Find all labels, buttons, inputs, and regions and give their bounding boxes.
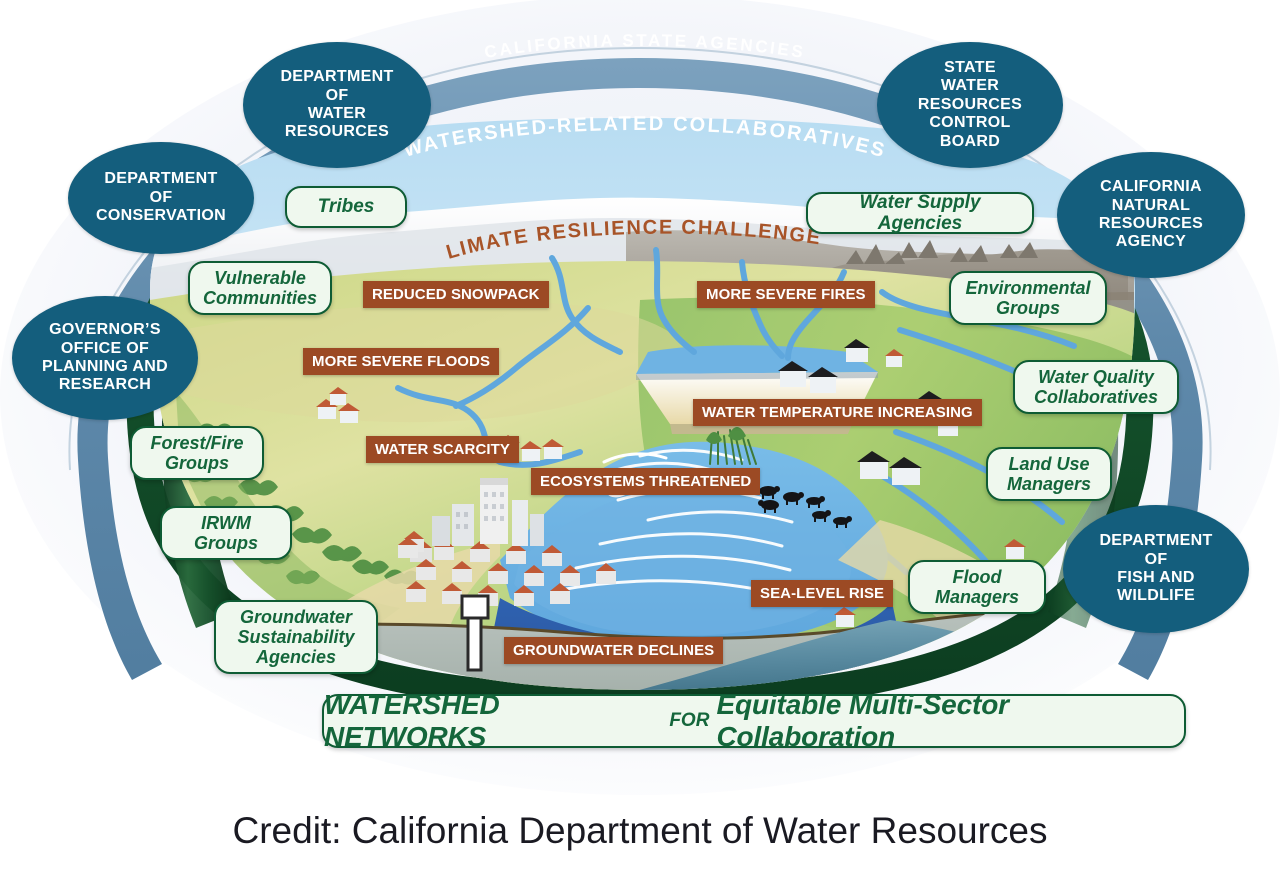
- pill-label: IRWM Groups: [194, 513, 258, 553]
- banner-part-2: FOR: [661, 710, 716, 732]
- challenge-water-temperature-increasing: WATER TEMPERATURE INCREASING: [693, 399, 982, 426]
- agency-label: DEPARTMENT OF CONSERVATION: [96, 170, 226, 225]
- agency-california-natural-resources-agency[interactable]: CALIFORNIA NATURAL RESOURCES AGENCY: [1057, 152, 1245, 278]
- agency-label: CALIFORNIA NATURAL RESOURCES AGENCY: [1099, 178, 1203, 252]
- agency-governors-office-of-planning-and-research[interactable]: GOVERNOR’S OFFICE OF PLANNING AND RESEAR…: [12, 296, 198, 420]
- challenge-water-scarcity: WATER SCARCITY: [366, 436, 519, 463]
- collaborative-tribes[interactable]: Tribes: [285, 186, 407, 228]
- agency-department-of-water-resources[interactable]: DEPARTMENT OF WATER RESOURCES: [243, 42, 431, 168]
- collaborative-irwm-groups[interactable]: IRWM Groups: [160, 506, 292, 560]
- agency-department-of-conservation[interactable]: DEPARTMENT OF CONSERVATION: [68, 142, 254, 254]
- agency-label: DEPARTMENT OF FISH AND WILDLIFE: [1099, 532, 1212, 606]
- infographic-canvas: CALIFORNIA STATE AGENCIES WATERSHED-RELA…: [0, 0, 1280, 880]
- credit-line: Credit: California Department of Water R…: [0, 810, 1280, 852]
- pill-label: Environmental Groups: [965, 278, 1090, 318]
- challenge-groundwater-declines: GROUNDWATER DECLINES: [504, 637, 723, 664]
- banner-part-3: Equitable Multi-Sector Collaboration: [716, 689, 1184, 753]
- agency-department-of-fish-and-wildlife[interactable]: DEPARTMENT OF FISH AND WILDLIFE: [1063, 505, 1249, 633]
- pill-label: Groundwater Sustainability Agencies: [237, 607, 354, 667]
- agency-state-water-resources-control-board[interactable]: STATE WATER RESOURCES CONTROL BOARD: [877, 42, 1063, 168]
- pill-label: Flood Managers: [935, 567, 1019, 607]
- challenge-more-severe-floods: MORE SEVERE FLOODS: [303, 348, 499, 375]
- challenge-more-severe-fires: MORE SEVERE FIRES: [697, 281, 875, 308]
- collaborative-flood-managers[interactable]: Flood Managers: [908, 560, 1046, 614]
- pill-label: Land Use Managers: [1007, 454, 1091, 494]
- agency-label: DEPARTMENT OF WATER RESOURCES: [280, 68, 393, 142]
- collaborative-water-supply-agencies[interactable]: Water Supply Agencies: [806, 192, 1034, 234]
- challenge-reduced-snowpack: REDUCED SNOWPACK: [363, 281, 549, 308]
- pill-label: Vulnerable Communities: [203, 268, 317, 308]
- collaborative-land-use-managers[interactable]: Land Use Managers: [986, 447, 1112, 501]
- collaborative-groundwater-sustainability-agencies[interactable]: Groundwater Sustainability Agencies: [214, 600, 378, 674]
- watershed-networks-banner: WATERSHED NETWORKS FOR Equitable Multi-S…: [322, 694, 1186, 748]
- banner-part-1: WATERSHED NETWORKS: [324, 689, 661, 753]
- collaborative-water-quality-collaboratives[interactable]: Water Quality Collaboratives: [1013, 360, 1179, 414]
- challenge-sea-level-rise: SEA-LEVEL RISE: [751, 580, 893, 607]
- agency-label: STATE WATER RESOURCES CONTROL BOARD: [918, 59, 1022, 151]
- agency-label: GOVERNOR’S OFFICE OF PLANNING AND RESEAR…: [42, 321, 168, 395]
- collaborative-forest-fire-groups[interactable]: Forest/Fire Groups: [130, 426, 264, 480]
- pill-label: Tribes: [318, 196, 375, 217]
- challenge-ecosystems-threatened: ECOSYSTEMS THREATENED: [531, 468, 760, 495]
- pill-label: Water Quality Collaboratives: [1034, 367, 1158, 407]
- pill-label: Water Supply Agencies: [820, 192, 1020, 235]
- pill-label: Forest/Fire Groups: [150, 433, 243, 473]
- collaborative-vulnerable-communities[interactable]: Vulnerable Communities: [188, 261, 332, 315]
- collaborative-environmental-groups[interactable]: Environmental Groups: [949, 271, 1107, 325]
